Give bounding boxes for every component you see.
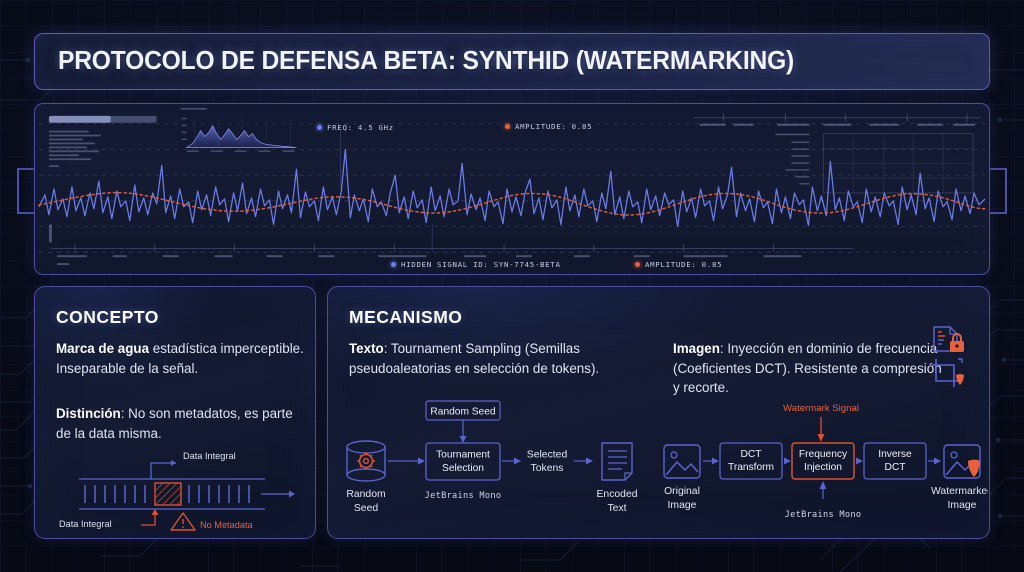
db-to-selection-arrowhead (418, 458, 425, 465)
inverse-dct-line1: Inverse (878, 449, 912, 460)
slide-root: PROTOCOLO DE DEFENSA BETA: SYNTHID (WATE… (0, 0, 1024, 572)
chart-annotation-amplitude-top-text: AMPLITUDE: 0.85 (515, 122, 592, 131)
signal-line (39, 149, 985, 226)
inverse-dct-line2: DCT (885, 462, 906, 473)
text-flow-diagram: Random Seed Random Seed (340, 399, 660, 534)
mecanismo-texto-lead: Texto (349, 341, 384, 356)
concepto-paragraph-1-lead: Marca de agua (56, 341, 149, 356)
mecanismo-imagen-lead: Imagen (673, 341, 720, 356)
seed-to-selection-arrowhead (460, 436, 467, 443)
chart-annotation-amplitude-top: AMPLITUDE: 0.85 (505, 122, 592, 131)
selected-tokens-line1: Selected (527, 450, 568, 461)
watermarked-image-line2: Image (948, 500, 977, 511)
database-gear-icon (347, 441, 385, 481)
chart-annotation-hidden-signal-text: HIDDEN SIGNAL ID: SYN-7745-BETA (401, 260, 561, 269)
chart-annotation-hidden-signal: HIDDEN SIGNAL ID: SYN-7745-BETA (391, 260, 561, 269)
red-dot-marker-icon-2 (635, 262, 640, 267)
imagen-icon-cluster (928, 325, 980, 387)
chart-annotation-freq: FREQ: 4.5 GHz (317, 123, 394, 132)
blue-dot-marker-icon (317, 125, 322, 130)
diagram-arrowhead-bottom (152, 509, 159, 515)
encoded-text-line2: Text (607, 503, 626, 514)
mecanismo-panel: MECANISMO Texto: Tournament Sampling (Se… (327, 286, 990, 539)
encoded-text-line1: Encoded (596, 489, 637, 500)
frequency-injection-line2: Injection (804, 462, 842, 473)
tournament-selection-caption: JetBrains Mono (425, 491, 502, 501)
concepto-paragraph-1: Marca de agua estadística imperceptible.… (56, 339, 304, 378)
red-dot-marker-icon (505, 124, 510, 129)
diagram-arrowhead-top (171, 460, 176, 466)
concepto-paragraph-2: Distinción: No son metadatos, es parte d… (56, 404, 304, 443)
dct-transform-line2: Transform (728, 462, 774, 473)
watermark-signal-label: Watermark Signal (783, 403, 859, 414)
concepto-data-strip-diagram: Data Integral (43, 447, 311, 535)
dct-to-injection-arrowhead (784, 458, 791, 465)
chart-annotation-amplitude-bottom: AMPLITUDE: 0.85 (635, 260, 722, 269)
image-flow-diagram: Watermark Signal Original Image DCT Tran… (658, 399, 988, 534)
injection-to-inverse-arrowhead (856, 458, 863, 465)
original-image-line1: Original (664, 486, 700, 497)
frequency-injection-caption: JetBrains Mono (785, 510, 862, 520)
concepto-panel: CONCEPTO Marca de agua estadística imper… (34, 286, 316, 539)
tournament-selection-line2: Selection (442, 463, 484, 474)
mecanismo-texto-paragraph: Texto: Tournament Sampling (Semillas pse… (349, 339, 629, 378)
tokens-to-output-arrowhead (586, 458, 593, 465)
chart-annotation-freq-text: FREQ: 4.5 GHz (327, 123, 394, 132)
page-title: PROTOCOLO DE DEFENSA BETA: SYNTHID (WATE… (58, 47, 794, 76)
injection-caption-arrowhead (820, 481, 827, 489)
selected-tokens-line2: Tokens (531, 463, 564, 474)
chart-annotation-amplitude-bottom-text: AMPLITUDE: 0.85 (645, 260, 722, 269)
image-to-dct-arrowhead (712, 458, 719, 465)
diagram-elbow-arrow-top (151, 463, 176, 479)
selection-to-tokens-arrowhead (514, 458, 521, 465)
tournament-selection-line1: Tournament (436, 450, 490, 461)
diagram-output-arrowhead (289, 491, 295, 498)
diagram-watermark-cell (155, 483, 181, 505)
warning-triangle-icon (171, 513, 195, 530)
blue-dot-marker-icon-2 (391, 262, 396, 267)
mecanismo-title: MECANISMO (349, 307, 462, 328)
diagram-label-bottom-left: Data Integral (59, 519, 112, 529)
crop-shield-icon (932, 359, 964, 387)
db-label-line1: Random (346, 489, 385, 500)
watermark-signal-arrowhead (818, 434, 825, 442)
document-icon (602, 443, 632, 480)
left-bracket-decoration (14, 168, 36, 214)
diagram-label-top: Data Integral (183, 451, 236, 461)
image-shield-icon (944, 445, 980, 478)
frequency-injection-line1: Frequency (799, 449, 848, 460)
mecanismo-texto-rest: : Tournament Sampling (Semillas pseudoal… (349, 341, 599, 376)
diagram-label-warning: No Metadata (200, 520, 253, 530)
right-bracket-decoration (988, 168, 1010, 214)
document-lock-icon (934, 327, 964, 352)
dct-transform-line1: DCT (741, 449, 762, 460)
concepto-title: CONCEPTO (56, 307, 159, 328)
mecanismo-imagen-paragraph: Imagen: Inyección en dominio de frecuenc… (673, 339, 943, 398)
concepto-paragraph-2-lead: Distinción (56, 406, 121, 421)
inverse-to-output-arrowhead (934, 458, 941, 465)
waveform-chart-panel: FREQ: 4.5 GHz AMPLITUDE: 0.85 HIDDEN SIG… (34, 103, 990, 275)
original-image-line2: Image (668, 500, 697, 511)
db-label-line2: Seed (354, 503, 378, 514)
image-icon (664, 445, 700, 478)
title-bar: PROTOCOLO DE DEFENSA BETA: SYNTHID (WATE… (34, 33, 990, 90)
watermarked-image-line1: Watermarked (931, 486, 988, 497)
random-seed-box-label: Random Seed (430, 407, 495, 418)
